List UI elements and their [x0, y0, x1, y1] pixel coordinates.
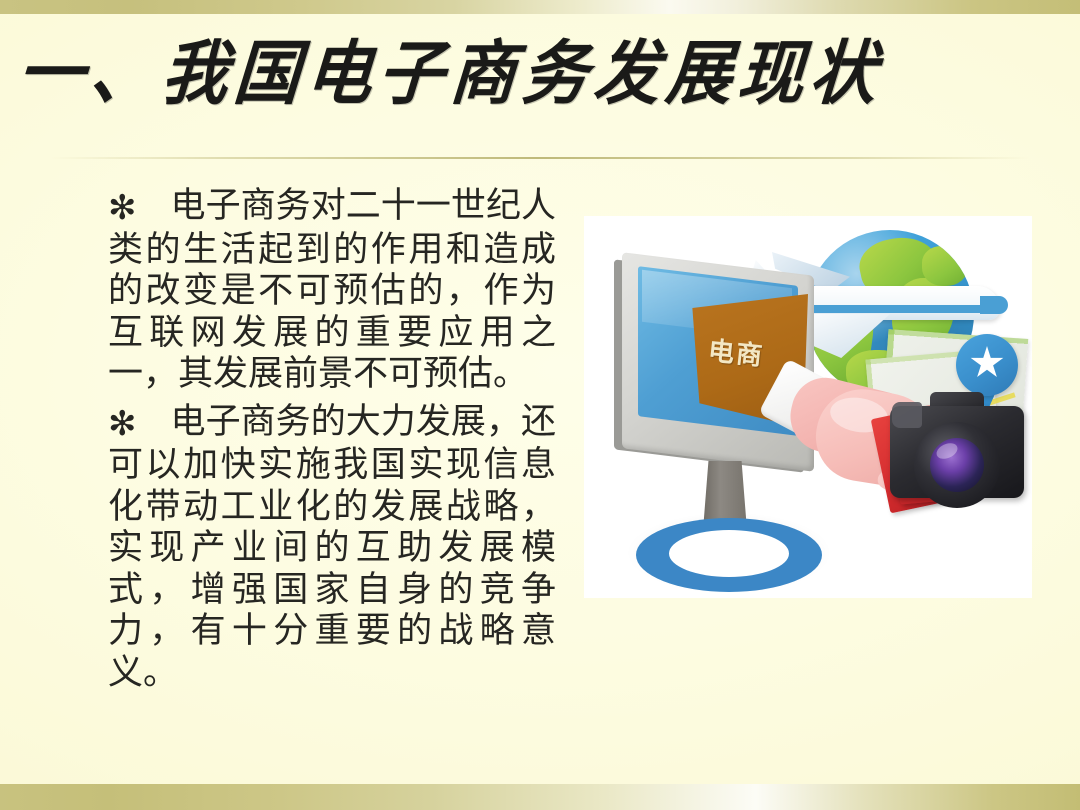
title-divider-rule: [50, 157, 1030, 159]
bullet-paragraph-1: ✻电子商务对二十一世纪人类的生活起到的作用和造成的改变是不可预估的，作为互联网发…: [108, 186, 556, 396]
body-text-column: ✻电子商务对二十一世纪人类的生活起到的作用和造成的改变是不可预估的，作为互联网发…: [108, 186, 556, 694]
bottom-decorative-band: [0, 784, 1080, 810]
bullet-paragraph-2: ✻电子商务的大力发展，还可以加快实施我国实现信息化带动工业化的发展战略，实现产业…: [108, 402, 556, 695]
bullet-text-2: 电子商务的大力发展，还可以加快实施我国实现信息化带动工业化的发展战略，实现产业间…: [108, 402, 556, 693]
monitor-base-ring-inner: [669, 530, 789, 577]
globe-landmass: [922, 246, 968, 286]
top-decorative-band: [0, 0, 1080, 14]
illustration-stage: 电商 PASSPORT: [584, 216, 1032, 598]
illustration-panel: 电商 PASSPORT: [584, 216, 1032, 598]
bullet-marker-2: ✻: [108, 404, 137, 444]
bullet-marker-1: ✻: [108, 188, 137, 228]
presentation-slide: 一、我国电子商务发展现状 ✻电子商务对二十一世纪人类的生活起到的作用和造成的改变…: [0, 0, 1080, 810]
slide-title: 一、我国电子商务发展现状: [15, 27, 921, 118]
airplane-nose: [980, 296, 1008, 314]
bullet-text-1: 电子商务对二十一世纪人类的生活起到的作用和造成的改变是不可预估的，作为互联网发展…: [108, 186, 556, 394]
camera-grip: [892, 402, 922, 428]
